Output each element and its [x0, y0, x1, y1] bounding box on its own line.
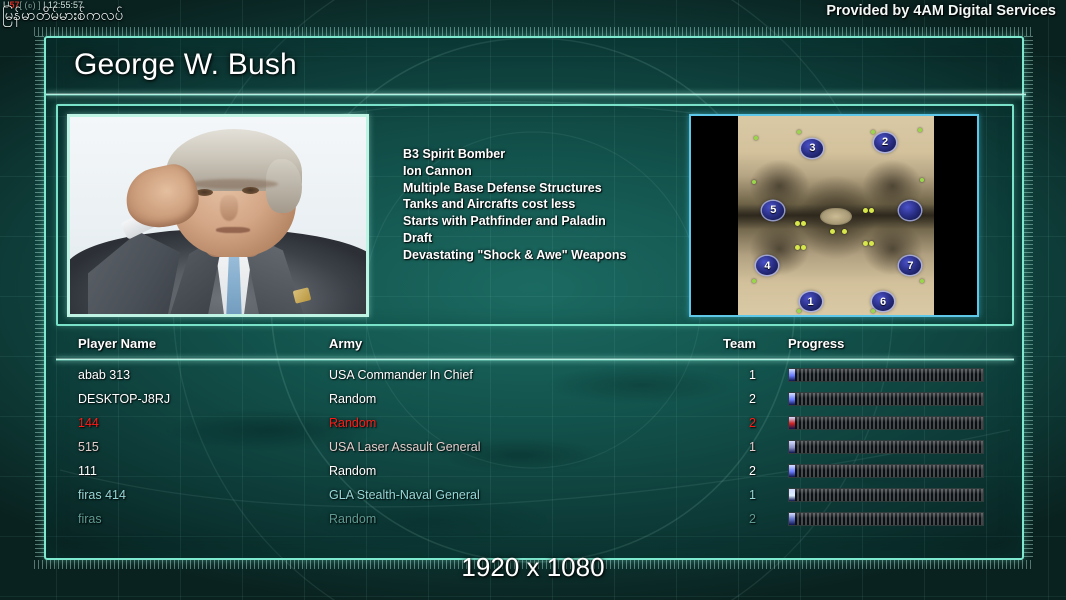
portrait-eye-right	[242, 187, 259, 194]
column-header-army: Army	[329, 336, 362, 351]
faction-ability-list: B3 Spirit Bomber Ion Cannon Multiple Bas…	[403, 146, 713, 264]
cell-team: 2	[666, 392, 756, 406]
map-preview[interactable]: 3254716	[738, 116, 934, 315]
cell-player-name: DESKTOP-J8RJ	[78, 392, 170, 406]
table-header-divider	[56, 358, 1014, 361]
cell-army: USA Laser Assault General	[329, 440, 480, 454]
map-start-position-2[interactable]: 2	[874, 133, 896, 152]
map-tech-building	[797, 130, 801, 134]
progress-bar	[788, 488, 984, 502]
progress-bar	[788, 416, 984, 430]
progress-bar	[788, 368, 984, 382]
cell-army: GLA Stealth-Naval General	[329, 488, 480, 502]
cell-player-name: 515	[78, 440, 99, 454]
progress-bar-gloss	[789, 369, 983, 374]
cell-team: 2	[666, 464, 756, 478]
map-tech-building	[797, 309, 801, 313]
faction-info-block: B3 Spirit Bomber Ion Cannon Multiple Bas…	[56, 104, 1014, 326]
map-center-island	[820, 208, 851, 226]
channel-title-burmese: မြန်မာတိမ်မားစ်ကလပ်	[2, 7, 123, 24]
panel-title-row: George W. Bush	[46, 38, 1022, 94]
map-start-position-3[interactable]: 3	[801, 139, 823, 158]
progress-bar	[788, 512, 984, 526]
progress-bar	[788, 392, 984, 406]
cell-player-name: abab 313	[78, 368, 130, 382]
progress-bar-gloss	[789, 441, 983, 446]
ability-item: Draft	[403, 230, 713, 247]
map-tech-building	[920, 279, 924, 283]
ability-item: B3 Spirit Bomber	[403, 146, 713, 163]
cell-player-name: firas	[78, 512, 102, 526]
map-tech-building	[752, 180, 756, 184]
map-tech-building	[918, 128, 922, 132]
table-row[interactable]: abab 313USA Commander In Chief1	[46, 364, 1022, 388]
portrait-image	[70, 117, 366, 314]
cell-team: 2	[666, 512, 756, 526]
page-title: George W. Bush	[74, 48, 297, 82]
title-divider	[46, 93, 1026, 96]
column-header-team: Team	[666, 336, 756, 351]
ability-item: Devastating "Shock & Awe" Weapons	[403, 247, 713, 264]
map-supply-dock	[869, 208, 874, 213]
resolution-label: 1920 x 1080	[0, 552, 1066, 583]
progress-bar-gloss	[789, 465, 983, 470]
cell-team: 1	[666, 368, 756, 382]
table-row[interactable]: 515USA Laser Assault General1	[46, 436, 1022, 460]
progress-bar	[788, 464, 984, 478]
map-start-position-5[interactable]: 5	[762, 201, 784, 220]
frame-ruler-left	[35, 36, 44, 560]
map-tech-building	[871, 309, 875, 313]
progress-bar-gloss	[789, 417, 983, 422]
table-row[interactable]: firas 414GLA Stealth-Naval General1	[46, 484, 1022, 508]
map-tech-building	[920, 178, 924, 182]
provider-credit: Provided by 4AM Digital Services	[826, 3, 1056, 19]
portrait-nose	[220, 195, 238, 221]
map-preview-frame[interactable]: 3254716	[689, 114, 979, 317]
progress-bar-gloss	[789, 489, 983, 494]
cell-player-name: 144	[78, 416, 99, 430]
cell-player-name: 111	[78, 464, 97, 478]
cell-team: 1	[666, 440, 756, 454]
game-lobby-screen: U57[ (စ) ] | 12:55:57 မြန်မာတိမ်မားစ်ကလပ…	[0, 0, 1066, 600]
column-header-progress: Progress	[788, 336, 844, 351]
map-tech-building	[752, 279, 756, 283]
ability-item: Starts with Pathfinder and Paladin	[403, 213, 713, 230]
frame-ruler-top	[34, 27, 1034, 36]
table-row[interactable]: 111Random2	[46, 460, 1022, 484]
progress-bar-gloss	[789, 513, 983, 518]
cell-army: Random	[329, 464, 376, 478]
frame-ruler-right	[1024, 36, 1033, 560]
ability-item: Tanks and Aircrafts cost less	[403, 196, 713, 213]
table-row[interactable]: firasRandom2	[46, 508, 1022, 532]
cell-player-name: firas 414	[78, 488, 126, 502]
general-portrait	[67, 114, 369, 317]
table-row[interactable]: 144Random2	[46, 412, 1022, 436]
player-table-body: abab 313USA Commander In Chief1DESKTOP-J…	[46, 364, 1022, 532]
player-table-header: Player Name Army Team Progress	[46, 334, 1022, 358]
cell-team: 1	[666, 488, 756, 502]
cell-team: 2	[666, 416, 756, 430]
cell-army: Random	[329, 416, 376, 430]
faction-detail-panel: George W. Bush	[44, 36, 1024, 560]
map-start-position-6[interactable]: 6	[872, 292, 894, 311]
top-status-bar: U57[ (စ) ] | 12:55:57 မြန်မာတိမ်မားစ်ကလပ…	[0, 0, 1066, 26]
cell-army: USA Commander In Chief	[329, 368, 473, 382]
portrait-mouth	[216, 227, 250, 233]
portrait-brow-shadow	[190, 179, 278, 189]
map-start-position-empty[interactable]	[899, 201, 921, 220]
ability-item: Multiple Base Defense Structures	[403, 180, 713, 197]
cell-army: Random	[329, 512, 376, 526]
ability-item: Ion Cannon	[403, 163, 713, 180]
map-tech-building	[754, 136, 758, 140]
map-start-position-1[interactable]: 1	[800, 292, 822, 311]
column-header-player-name: Player Name	[78, 336, 156, 351]
map-tech-building	[871, 130, 875, 134]
progress-bar-gloss	[789, 393, 983, 398]
table-row[interactable]: DESKTOP-J8RJRandom2	[46, 388, 1022, 412]
progress-bar	[788, 440, 984, 454]
cell-army: Random	[329, 392, 376, 406]
